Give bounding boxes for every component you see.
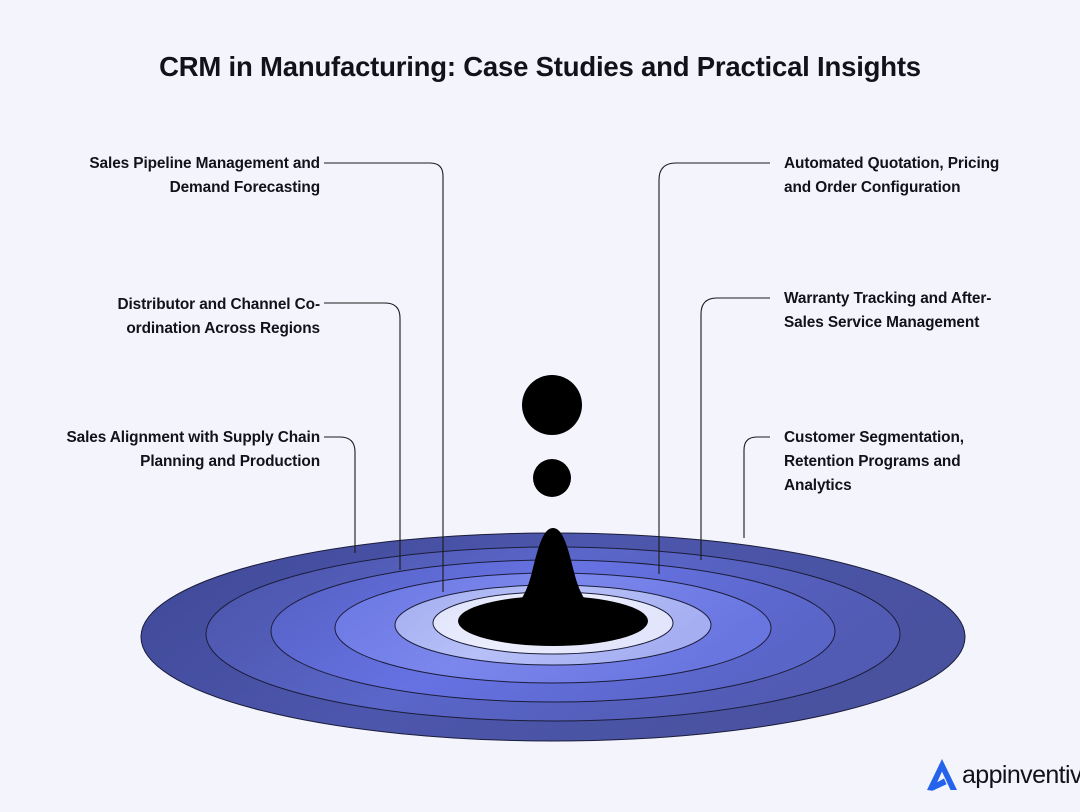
ripple-ring-2: [206, 547, 900, 721]
connector-line-right-3: [744, 437, 770, 538]
connector-line-right-2: [701, 298, 770, 560]
connector-line-right-1: [659, 163, 770, 574]
ripple-graphic: [0, 0, 1080, 812]
ripple-ring-1: [141, 533, 965, 741]
ripple-ring-6: [433, 592, 673, 654]
ripple-rings: [141, 533, 965, 741]
connector-line-left-3: [324, 437, 355, 553]
ripple-ring-5: [395, 585, 711, 665]
droplet-small-icon: [533, 459, 571, 497]
appinventiv-logo-mark-icon: [925, 757, 959, 793]
droplet-large-icon: [522, 375, 582, 435]
label-sales-pipeline-management-and-demand-forecasting: Sales Pipeline Management and Demand For…: [58, 152, 320, 200]
ripple-center-pool: [458, 596, 648, 646]
appinventiv-logo: appinventiv: [925, 757, 1080, 793]
page-title: CRM in Manufacturing: Case Studies and P…: [0, 50, 1080, 83]
connector-lines-left: [324, 163, 443, 592]
ripple-ring-3: [271, 560, 835, 702]
label-sales-alignment-with-supply-chain-planning-and-production: Sales Alignment with Supply Chain Planni…: [58, 426, 320, 474]
connector-lines-right: [659, 163, 770, 574]
connector-line-left-2: [324, 303, 400, 570]
ripple-ring-4: [335, 573, 771, 683]
infographic-canvas: CRM in Manufacturing: Case Studies and P…: [0, 0, 1080, 812]
droplet-splash: [492, 375, 614, 622]
label-distributor-and-channel-coordination-across-regions: Distributor and Channel Co-ordination Ac…: [58, 293, 320, 341]
label-warranty-tracking-and-after-sales-service-management: Warranty Tracking and After-Sales Servic…: [784, 287, 1016, 335]
label-automated-quotation-pricing-and-order-configuration: Automated Quotation, Pricing and Order C…: [784, 152, 1016, 200]
label-customer-segmentation-retention-programs-and-analytics: Customer Segmentation, Retention Program…: [784, 426, 1016, 498]
splash-spike-icon: [492, 528, 614, 622]
connector-line-left-1: [324, 163, 443, 592]
appinventiv-wordmark: appinventiv: [962, 763, 1080, 788]
